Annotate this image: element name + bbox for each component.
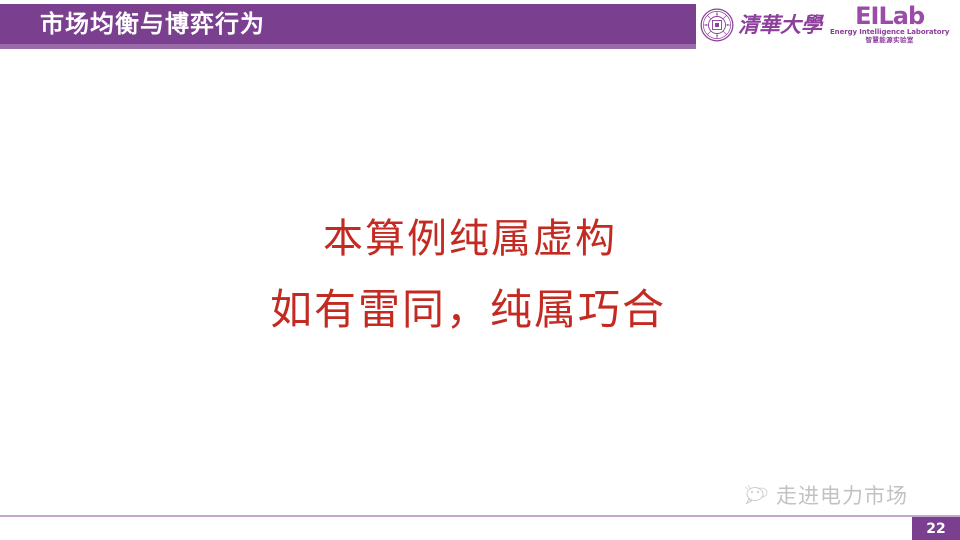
slide-body: 本算例纯属虚构 如有雷同，纯属巧合 xyxy=(0,49,960,515)
slide-canvas: 市场均衡与博弈行为 xyxy=(0,0,960,540)
tsinghua-wordmark: 清華大學 xyxy=(738,14,822,35)
slide-title: 市场均衡与博弈行为 xyxy=(40,8,265,41)
tsinghua-logo: 清華大學 xyxy=(700,8,822,42)
disclaimer-line-1: 本算例纯属虚构 xyxy=(0,206,950,264)
page-number-badge: 22 xyxy=(912,517,960,540)
slide-header: 市场均衡与博弈行为 xyxy=(0,0,960,49)
footer-divider xyxy=(0,515,960,517)
logo-area: 清華大學 EILab Energy Intelligence Laborator… xyxy=(700,0,960,49)
eilab-wordmark: EILab xyxy=(855,5,924,28)
eilab-logo: EILab Energy Intelligence Laboratory 智慧能… xyxy=(830,5,949,43)
wechat-bubble-icon xyxy=(744,484,770,506)
watermark-label: 走进电力市场 xyxy=(776,480,908,510)
disclaimer-line-2: 如有雷同，纯属巧合 xyxy=(0,276,948,337)
eilab-subtitle-cn: 智慧能源实验室 xyxy=(865,37,913,44)
watermark: 走进电力市场 xyxy=(744,480,908,510)
tsinghua-seal-icon xyxy=(700,8,734,42)
